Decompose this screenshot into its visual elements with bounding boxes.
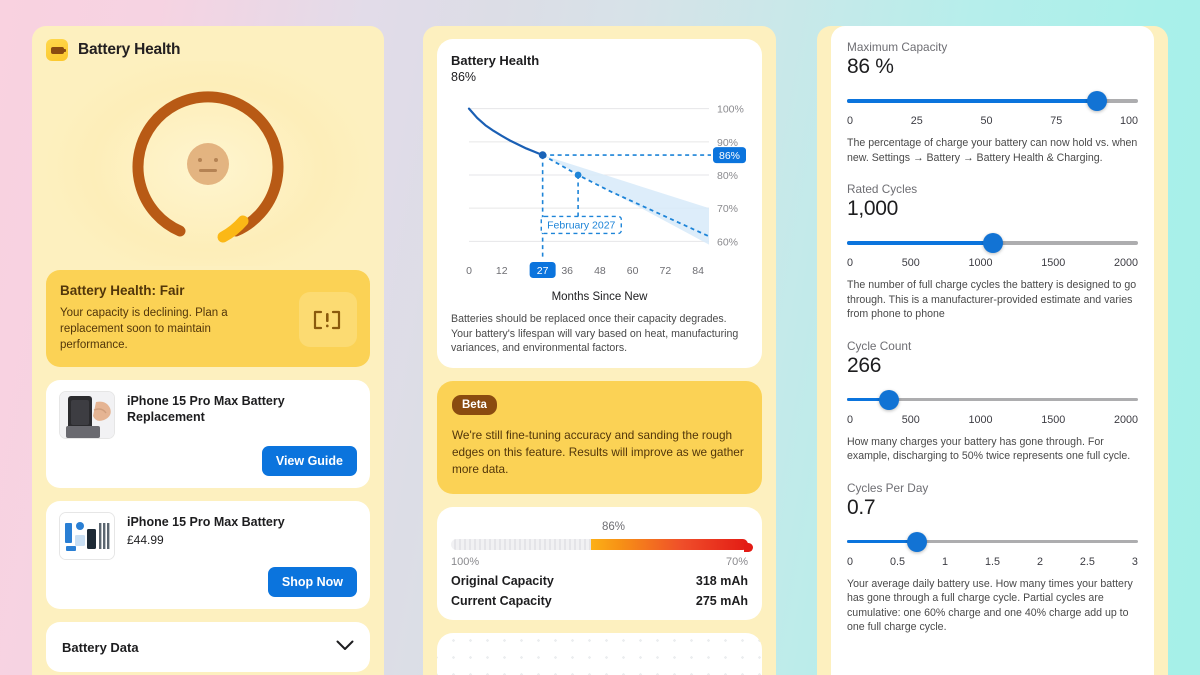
- slider-thumb[interactable]: [879, 390, 899, 410]
- product-price: £44.99: [127, 533, 285, 547]
- slider-tick: 0: [847, 414, 853, 426]
- chart-subtitle: 86%: [451, 70, 748, 84]
- shop-now-button[interactable]: Shop Now: [268, 567, 357, 597]
- slider-tick-labels: 0500100015002000: [847, 414, 1138, 426]
- slider-thumb[interactable]: [983, 233, 1003, 253]
- slider-thumb[interactable]: [1087, 91, 1107, 111]
- battery-health-hero: [32, 61, 384, 266]
- slider-tick: 0: [847, 115, 853, 127]
- parameter-value: 1,000: [847, 197, 1138, 221]
- parameter-field-3: Cycles Per Day 0.7 00.511.522.53 Your av…: [847, 481, 1138, 635]
- slider-tick: 2.5: [1080, 556, 1095, 568]
- product-thumbnail: [59, 391, 115, 439]
- parameter-value: 0.7: [847, 496, 1138, 520]
- status-card: Battery Health: Fair Your capacity is de…: [46, 270, 370, 367]
- slider-tick-labels: 0255075100: [847, 115, 1138, 127]
- battery-icon: [46, 39, 68, 61]
- status-badge: Beta: [452, 395, 497, 415]
- current-capacity-value: 275 mAh: [696, 594, 748, 608]
- slider-tick: 1500: [1041, 414, 1065, 426]
- slider-tick: 2000: [1114, 414, 1138, 426]
- slider-tick: 2000: [1114, 257, 1138, 269]
- chart-svg[interactable]: 100%90%80%70%60%February 202786%01227364…: [451, 88, 776, 293]
- product-title: iPhone 15 Pro Max Battery: [127, 512, 285, 530]
- slider-tick: 3: [1132, 556, 1138, 568]
- chart-y-tick: 80%: [717, 170, 738, 182]
- parameter-label: Cycles Per Day: [847, 481, 1138, 495]
- left-panel: Battery Health Battery Health: Fair Your…: [32, 26, 384, 675]
- middle-panel: Battery Health 86% 100%90%80%70%60%Febru…: [423, 26, 776, 675]
- chart-title: Battery Health: [451, 53, 748, 68]
- chart-x-tick: 12: [496, 265, 508, 277]
- parameter-slider[interactable]: [847, 531, 1138, 553]
- parameter-label: Maximum Capacity: [847, 40, 1138, 54]
- slider-tick: 0: [847, 556, 853, 568]
- right-panel: Maximum Capacity 86 % 0255075100 The per…: [817, 26, 1168, 675]
- slider-tick: 25: [911, 115, 923, 127]
- chart-annotation: February 2027: [547, 219, 615, 231]
- list-item[interactable]: iPhone 15 Pro Max Battery £44.99 Shop No…: [46, 501, 370, 609]
- slider-tick: 100: [1120, 115, 1138, 127]
- slider-tick-labels: 0500100015002000: [847, 257, 1138, 269]
- slider-tick: 1.5: [985, 556, 1000, 568]
- chart-current-value-badge: 86%: [719, 150, 740, 162]
- slider-fill: [847, 241, 993, 245]
- slider-fill: [847, 99, 1097, 103]
- capacity-marker-label: 86%: [465, 521, 762, 533]
- capacity-bar-left-label: 100%: [451, 556, 479, 568]
- beta-notice-card: Beta We're still fine-tuning accuracy an…: [437, 381, 762, 494]
- slider-tick: 0.5: [890, 556, 905, 568]
- current-capacity-label: Current Capacity: [451, 594, 552, 608]
- status-body: Your capacity is declining. Plan a repla…: [60, 305, 260, 353]
- product-title: iPhone 15 Pro Max Battery Replacement: [127, 391, 357, 425]
- parameter-help-text: The percentage of charge your battery ca…: [847, 136, 1138, 165]
- view-guide-button[interactable]: View Guide: [262, 446, 357, 476]
- parameter-help-text: How many charges your battery has gone t…: [847, 435, 1138, 464]
- parameter-label: Cycle Count: [847, 339, 1138, 353]
- chart-x-tick: 48: [594, 265, 606, 277]
- chart-y-tick: 70%: [717, 203, 738, 215]
- chart-x-tick: 0: [466, 265, 472, 277]
- slider-tick: 2: [1037, 556, 1043, 568]
- page-title: Battery Health: [78, 41, 180, 59]
- slider-tick-labels: 00.511.522.53: [847, 556, 1138, 568]
- parameter-help-text: Your average daily battery use. How many…: [847, 577, 1138, 635]
- capacity-bar-fill: [591, 539, 748, 550]
- chart-y-tick: 100%: [717, 104, 744, 116]
- slider-tick: 500: [902, 414, 920, 426]
- parameter-value: 266: [847, 354, 1138, 378]
- chart-x-tick: 60: [627, 265, 639, 277]
- original-capacity-value: 318 mAh: [696, 574, 748, 588]
- neutral-face-icon: [187, 143, 229, 185]
- product-thumbnail: [59, 512, 115, 560]
- battery-data-accordion[interactable]: Battery Data: [46, 622, 370, 672]
- app-header: Battery Health: [32, 26, 384, 61]
- chart-x-tick: 84: [692, 265, 704, 277]
- next-card-placeholder: [437, 633, 762, 675]
- parameter-slider[interactable]: [847, 232, 1138, 254]
- slider-tick: 1500: [1041, 257, 1065, 269]
- slider-tick: 75: [1050, 115, 1062, 127]
- capacity-bar: [451, 536, 748, 552]
- parameter-slider[interactable]: [847, 90, 1138, 112]
- chart-y-tick: 90%: [717, 137, 738, 149]
- slider-tick: 1: [942, 556, 948, 568]
- slider-tick: 0: [847, 257, 853, 269]
- capacity-bar-right-label: 70%: [726, 556, 748, 568]
- original-capacity-label: Original Capacity: [451, 574, 554, 588]
- parameter-field-1: Rated Cycles 1,000 0500100015002000 The …: [847, 182, 1138, 322]
- table-row: Current Capacity 275 mAh: [451, 594, 748, 608]
- accordion-label: Battery Data: [62, 640, 139, 655]
- chart-x-tick: 72: [660, 265, 672, 277]
- capacity-card: 86% 100% 70% Original Capacity 318 mAh C…: [437, 507, 762, 620]
- slider-tick: 500: [902, 257, 920, 269]
- slider-tick: 1000: [968, 257, 992, 269]
- beta-notice-text: We're still fine-tuning accuracy and san…: [452, 427, 747, 478]
- chart-y-tick: 60%: [717, 236, 738, 248]
- parameter-value: 86 %: [847, 55, 1138, 79]
- battery-parameters-list: Maximum Capacity 86 % 0255075100 The per…: [831, 26, 1154, 675]
- battery-health-chart-card: Battery Health 86% 100%90%80%70%60%Febru…: [437, 39, 762, 368]
- parameter-field-2: Cycle Count 266 0500100015002000 How man…: [847, 339, 1138, 464]
- chevron-down-icon[interactable]: [336, 638, 354, 656]
- parameter-label: Rated Cycles: [847, 182, 1138, 196]
- table-row: Original Capacity 318 mAh: [451, 574, 748, 588]
- chart-x-tick: 36: [561, 265, 573, 277]
- battery-health-chart[interactable]: 100%90%80%70%60%February 202786%01227364…: [451, 88, 748, 293]
- slider-thumb[interactable]: [907, 532, 927, 552]
- parameter-slider[interactable]: [847, 389, 1138, 411]
- chart-disclaimer: Batteries should be replaced once their …: [451, 312, 748, 356]
- parameter-field-0: Maximum Capacity 86 % 0255075100 The per…: [847, 40, 1138, 165]
- slider-tick: 1000: [968, 414, 992, 426]
- slider-tick: 50: [980, 115, 992, 127]
- parameter-help-text: The number of full charge cycles the bat…: [847, 278, 1138, 322]
- list-item[interactable]: iPhone 15 Pro Max Battery Replacement Vi…: [46, 380, 370, 488]
- chart-x-tick: 27: [537, 265, 549, 277]
- battery-warning-icon: [299, 292, 357, 347]
